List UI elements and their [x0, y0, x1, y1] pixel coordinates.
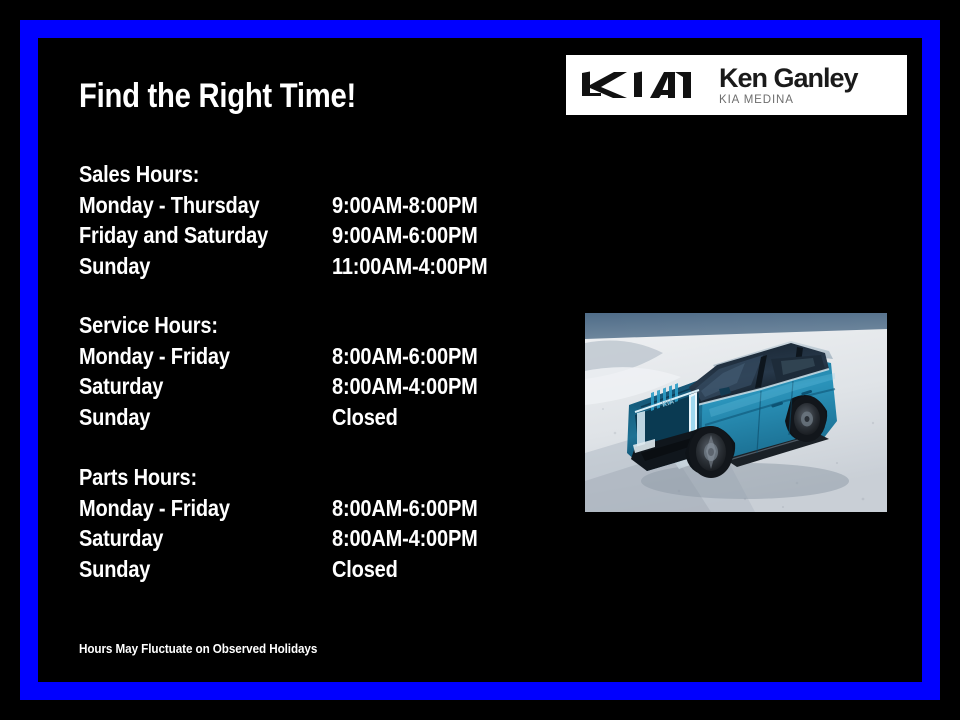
section-heading-sales: Sales Hours:: [79, 159, 488, 190]
hours-time-value: 8:00AM-4:00PM: [332, 523, 478, 554]
table-row: Sunday 11:00AM-4:00PM: [79, 251, 549, 282]
hours-day-label: Monday - Friday: [79, 493, 230, 524]
hours-section-sales: Sales Hours: Monday - Thursday 9:00AM-8:…: [79, 159, 549, 281]
kia-logo-icon: [575, 70, 699, 100]
table-row: Saturday 8:00AM-4:00PM: [79, 371, 549, 402]
kia-ev9-suv-photo: KIA: [585, 313, 887, 512]
dealer-subtitle: KIA MEDINA: [719, 93, 858, 107]
hours-time-value: Closed: [332, 554, 398, 585]
table-row: Saturday 8:00AM-4:00PM: [79, 523, 549, 554]
section-heading-service: Service Hours:: [79, 310, 488, 341]
hours-day-label: Monday - Friday: [79, 341, 230, 372]
hours-day-label: Sunday: [79, 554, 150, 585]
section-heading-parts: Parts Hours:: [79, 462, 488, 493]
hours-time-value: 8:00AM-4:00PM: [332, 371, 478, 402]
table-row: Friday and Saturday 9:00AM-6:00PM: [79, 220, 549, 251]
hours-time-value: 9:00AM-8:00PM: [332, 190, 478, 221]
hours-time-value: 8:00AM-6:00PM: [332, 341, 478, 372]
hours-day-label: Saturday: [79, 523, 163, 554]
dealer-logo-banner: Ken Ganley KIA MEDINA: [566, 55, 907, 115]
hours-day-label: Monday - Thursday: [79, 190, 259, 221]
hours-day-label: Friday and Saturday: [79, 220, 268, 251]
hours-time-value: Closed: [332, 402, 398, 433]
hours-time-value: 8:00AM-6:00PM: [332, 493, 478, 524]
table-row: Monday - Friday 8:00AM-6:00PM: [79, 341, 549, 372]
hours-day-label: Sunday: [79, 402, 150, 433]
footer-disclaimer: Hours May Fluctuate on Observed Holidays: [79, 641, 317, 657]
hours-time-value: 9:00AM-6:00PM: [332, 220, 478, 251]
slide-canvas: Find the Right Time! Sales Hours: Monday…: [0, 0, 960, 720]
hours-section-parts: Parts Hours: Monday - Friday 8:00AM-6:00…: [79, 462, 549, 584]
page-title: Find the Right Time!: [79, 78, 356, 114]
table-row: Sunday Closed: [79, 554, 549, 585]
dealer-name: Ken Ganley: [719, 64, 858, 92]
hours-day-label: Sunday: [79, 251, 150, 282]
hours-time-value: 11:00AM-4:00PM: [332, 251, 487, 282]
table-row: Monday - Friday 8:00AM-6:00PM: [79, 493, 549, 524]
hours-day-label: Saturday: [79, 371, 163, 402]
table-row: Monday - Thursday 9:00AM-8:00PM: [79, 190, 549, 221]
hours-section-service: Service Hours: Monday - Friday 8:00AM-6:…: [79, 310, 549, 432]
dealer-name-block: Ken Ganley KIA MEDINA: [719, 64, 858, 107]
table-row: Sunday Closed: [79, 402, 549, 433]
